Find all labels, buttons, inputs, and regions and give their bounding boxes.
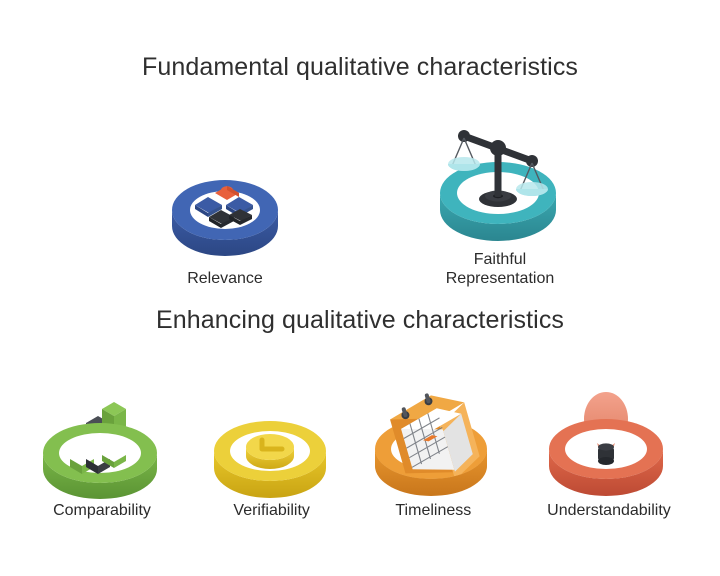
- item-verifiability[interactable]: Verifiability: [191, 387, 353, 520]
- item-label-understandability: Understandability: [547, 501, 671, 520]
- coin-check-icon: [202, 387, 342, 499]
- heading-fundamental-characteristics: Fundamental qualitative characteristics: [0, 52, 720, 82]
- balance-scale-icon: [430, 111, 570, 246]
- heading-enhancing-characteristics: Enhancing qualitative characteristics: [0, 305, 720, 335]
- understandability-icon-wrapper: [536, 381, 681, 499]
- item-label-comparability: Comparability: [53, 501, 151, 520]
- item-label-relevance: Relevance: [187, 269, 263, 288]
- enhancing-items-row: Comparability: [16, 360, 704, 520]
- infographic-canvas: Fundamental qualitative characteristics: [0, 0, 720, 576]
- timeliness-icon-wrapper: [363, 381, 503, 499]
- item-label-faithful-representation: Faithful Representation: [446, 250, 555, 288]
- verifiability-icon-wrapper: [202, 387, 342, 499]
- item-label-verifiability: Verifiability: [233, 501, 309, 520]
- fundamental-items-row: Relevance: [150, 108, 580, 288]
- relevance-icon-wrapper: [160, 158, 290, 263]
- item-faithful-representation[interactable]: Faithful Representation: [420, 111, 580, 288]
- comparability-icon-wrapper: [30, 387, 175, 499]
- item-label-timeliness: Timeliness: [395, 501, 471, 520]
- item-relevance[interactable]: Relevance: [150, 158, 300, 288]
- item-understandability[interactable]: Understandability: [514, 381, 704, 520]
- puzzle-pieces-icon: [160, 158, 290, 263]
- item-comparability[interactable]: Comparability: [16, 387, 188, 520]
- faithful-representation-icon-wrapper: [430, 111, 570, 246]
- calendar-icon: [363, 381, 503, 499]
- item-timeliness[interactable]: Timeliness: [355, 381, 511, 520]
- bar-chart-icon: [30, 387, 175, 499]
- lightbulb-icon: [536, 381, 681, 499]
